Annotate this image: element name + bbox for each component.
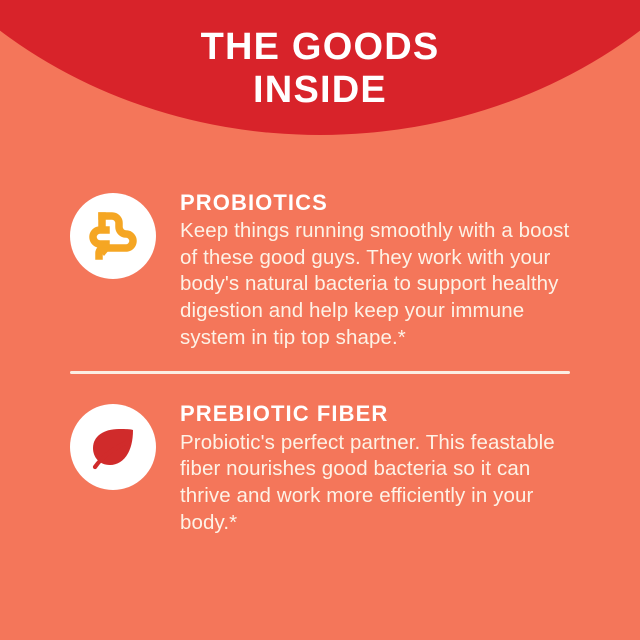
goods-inside-poster: THE GOODS INSIDE PROBIOTICS Keep things … [0, 0, 640, 640]
probiotics-icon-badge [70, 193, 156, 279]
page-title: THE GOODS INSIDE [0, 26, 640, 111]
prebiotic-fiber-heading: PREBIOTIC FIBER [180, 402, 614, 426]
prebiotic-fiber-icon-badge [70, 404, 156, 490]
probiotics-heading: PROBIOTICS [180, 191, 614, 215]
probiotics-description: Keep things running smoothly with a boos… [180, 218, 580, 351]
section-divider [70, 371, 570, 374]
intestine-icon [84, 207, 142, 265]
benefit-section-prebiotic-fiber: PREBIOTIC FIBER Probiotic's perfect part… [0, 396, 640, 536]
benefit-section-probiotics: PROBIOTICS Keep things running smoothly … [0, 185, 640, 351]
prebiotic-fiber-description: Probiotic's perfect partner. This feasta… [180, 430, 580, 537]
leaf-icon [86, 420, 140, 474]
prebiotic-fiber-text-block: PREBIOTIC FIBER Probiotic's perfect part… [156, 396, 614, 536]
page-title-line-1: THE GOODS [0, 26, 640, 69]
benefits-list: PROBIOTICS Keep things running smoothly … [0, 185, 640, 536]
page-title-line-2: INSIDE [0, 69, 640, 112]
probiotics-text-block: PROBIOTICS Keep things running smoothly … [156, 185, 614, 351]
